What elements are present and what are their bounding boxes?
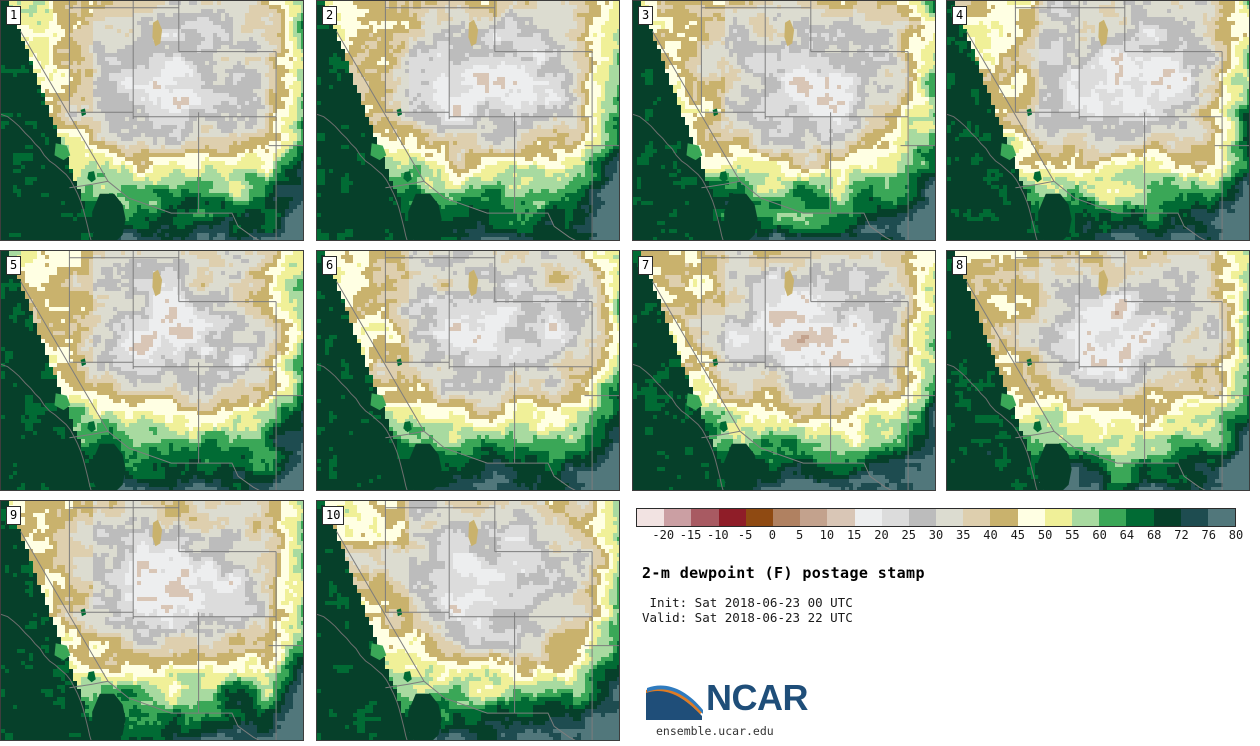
panel-number-label: 9 bbox=[6, 506, 21, 525]
colorbar-cell bbox=[990, 509, 1017, 526]
panel-number-label: 6 bbox=[322, 256, 337, 275]
ncar-logo[interactable]: NCAR ensemble.ucar.edu bbox=[644, 676, 824, 736]
map-panel-member-1[interactable]: 1 bbox=[0, 0, 304, 241]
map-panel-member-9[interactable]: 9 bbox=[0, 500, 304, 741]
colorbar-cell bbox=[1126, 509, 1153, 526]
map-panel-member-5[interactable]: 5 bbox=[0, 250, 304, 491]
colorbar bbox=[636, 508, 1236, 527]
page-title: 2-m dewpoint (F) postage stamp bbox=[642, 564, 925, 582]
ncar-wordmark: NCAR bbox=[706, 677, 808, 719]
colorbar-cell bbox=[1018, 509, 1045, 526]
ncar-swoosh-icon bbox=[644, 678, 704, 722]
colorbar-tick-labels: -20-15-10-505101520253035404550556064687… bbox=[636, 528, 1236, 546]
legend-info-block: -20-15-10-505101520253035404550556064687… bbox=[630, 500, 1252, 746]
colorbar-cell bbox=[963, 509, 990, 526]
map-panel-member-6[interactable]: 6 bbox=[316, 250, 620, 491]
colorbar-cell bbox=[1045, 509, 1072, 526]
map-panel-member-10[interactable]: 10 bbox=[316, 500, 620, 741]
map-panel-member-8[interactable]: 8 bbox=[946, 250, 1250, 491]
colorbar-cell bbox=[800, 509, 827, 526]
colorbar-cell bbox=[855, 509, 882, 526]
colorbar-cell bbox=[827, 509, 854, 526]
colorbar-cell bbox=[1154, 509, 1181, 526]
colorbar-cell bbox=[909, 509, 936, 526]
colorbar-cell bbox=[637, 509, 664, 526]
colorbar-container: -20-15-10-505101520253035404550556064687… bbox=[636, 508, 1236, 546]
colorbar-cell bbox=[773, 509, 800, 526]
colorbar-tick: 80 bbox=[1216, 528, 1256, 542]
panel-number-label: 4 bbox=[952, 6, 967, 25]
colorbar-cell bbox=[1099, 509, 1126, 526]
map-panel-member-7[interactable]: 7 bbox=[632, 250, 936, 491]
valid-time-label: Valid: Sat 2018-06-23 22 UTC bbox=[642, 610, 853, 625]
panel-number-label: 2 bbox=[322, 6, 337, 25]
colorbar-cell bbox=[719, 509, 746, 526]
panel-number-label: 1 bbox=[6, 6, 21, 25]
map-panel-member-4[interactable]: 4 bbox=[946, 0, 1250, 241]
colorbar-cell bbox=[691, 509, 718, 526]
init-time-label: Init: Sat 2018-06-23 00 UTC bbox=[642, 595, 853, 610]
colorbar-cell bbox=[1072, 509, 1099, 526]
panel-number-label: 10 bbox=[322, 506, 344, 525]
panel-number-label: 5 bbox=[6, 256, 21, 275]
ncar-url-label: ensemble.ucar.edu bbox=[656, 724, 774, 738]
map-panel-member-2[interactable]: 2 bbox=[316, 0, 620, 241]
map-panel-member-3[interactable]: 3 bbox=[632, 0, 936, 241]
colorbar-cell bbox=[664, 509, 691, 526]
colorbar-cell bbox=[936, 509, 963, 526]
colorbar-cell bbox=[1181, 509, 1208, 526]
colorbar-cell bbox=[882, 509, 909, 526]
colorbar-cell bbox=[746, 509, 773, 526]
panel-number-label: 8 bbox=[952, 256, 967, 275]
panel-number-label: 7 bbox=[638, 256, 653, 275]
panel-number-label: 3 bbox=[638, 6, 653, 25]
colorbar-cell bbox=[1208, 509, 1235, 526]
